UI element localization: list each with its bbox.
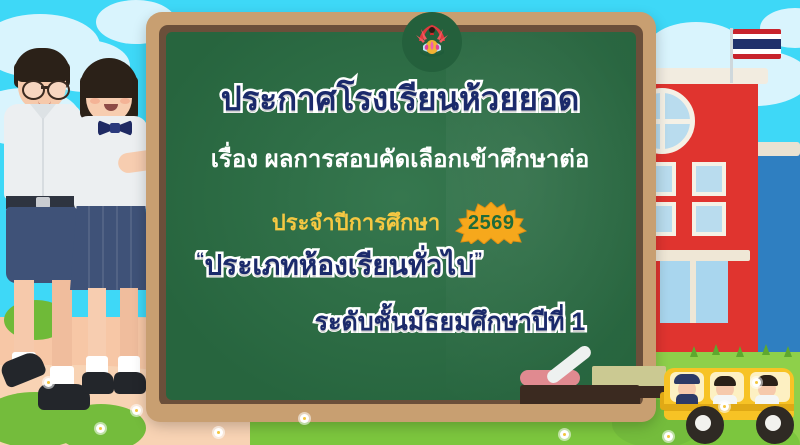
bus-child-1-hair — [714, 376, 736, 386]
grass-tuft-4 — [762, 344, 770, 355]
grass-tuft-2 — [712, 344, 720, 355]
bus-wheel-rear — [756, 406, 794, 444]
classroom-type: ประเภทห้องเรียนทั่วไป — [205, 249, 474, 280]
quote-open: “ — [196, 249, 205, 268]
academic-year-label: ประจำปีการศึกษา — [272, 212, 440, 234]
girl-bow-knot — [110, 123, 120, 133]
entrance-awning — [654, 250, 750, 261]
flower-7 — [752, 378, 761, 387]
flower-4 — [300, 414, 309, 423]
flower-1 — [44, 378, 53, 387]
academic-year-value: 2569 — [468, 213, 515, 233]
ministry-of-education-emblem — [402, 12, 462, 72]
chalkboard-ledge — [146, 404, 656, 422]
grass-tuft-1 — [690, 346, 698, 357]
quote-close: ” — [474, 249, 483, 268]
flower-2 — [96, 424, 105, 433]
grass-tuft-5 — [784, 346, 792, 357]
bus-driver-cap — [674, 374, 700, 384]
announcement-title: ประกาศโรงเรียนห้วยยอด — [0, 82, 800, 115]
flower-6 — [664, 432, 673, 441]
flower-5 — [560, 430, 569, 439]
flower-3 — [214, 428, 223, 437]
grass-tuft-3 — [736, 346, 744, 357]
poster-canvas: ประกาศโรงเรียนห้วยยอด เรื่อง ผลการสอบคัด… — [0, 0, 800, 445]
subject-line: เรื่อง ผลการสอบคัดเลือกเข้าศึกษาต่อ — [0, 148, 800, 172]
classroom-type-line: “ประเภทห้องเรียนทั่วไป” — [196, 250, 482, 279]
girl-shoe-left — [82, 372, 114, 394]
girl-shoe-right — [114, 372, 146, 394]
flower-9 — [132, 406, 141, 415]
grade-level-line: ระดับชั้นมัธยมศึกษาปีที่ 1 — [0, 310, 800, 335]
flower-8 — [720, 402, 729, 411]
academic-year-row: ประจำปีการศึกษา 2569 — [0, 202, 800, 244]
thai-flag-icon — [733, 29, 781, 59]
bus-wheel-front — [686, 406, 724, 444]
academic-year-badge: 2569 — [454, 202, 528, 244]
